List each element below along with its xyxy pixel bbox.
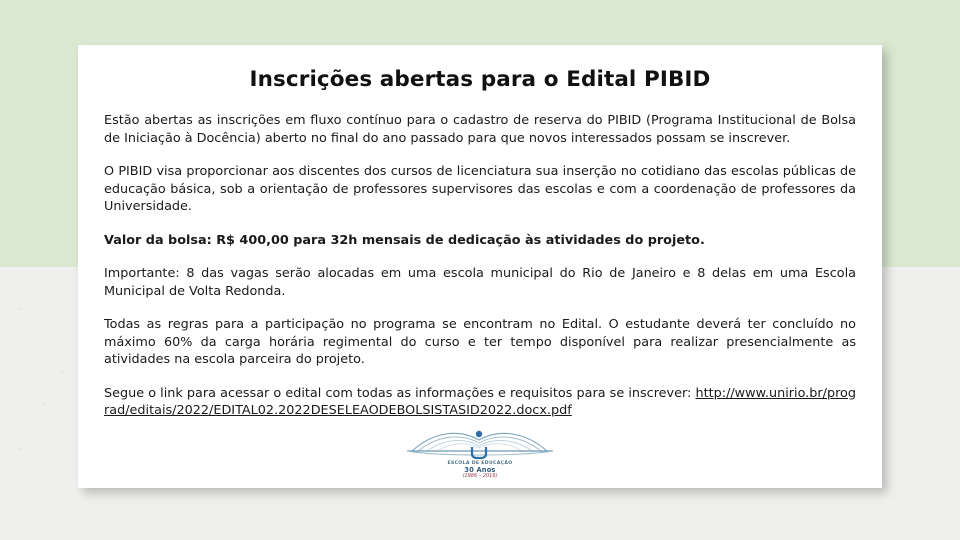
paragraph-scholarship-value: Valor da bolsa: R$ 400,00 para 32h mensa…: [104, 232, 856, 250]
logo-text-block: ESCOLA DE EDUCAÇÃO 30 Anos (1986 – 2016): [447, 462, 512, 479]
paragraph-objective: O PIBID visa proporcionar aos discentes …: [104, 163, 856, 216]
document-body: Estão abertas as inscrições em fluxo con…: [100, 112, 860, 420]
institution-logo: ESCOLA DE EDUCAÇÃO 30 Anos (1986 – 2016): [78, 421, 882, 479]
page-title: Inscrições abertas para o Edital PIBID: [100, 67, 860, 92]
open-book-icon: [404, 421, 556, 463]
paragraph-intro: Estão abertas as inscrições em fluxo con…: [104, 112, 856, 147]
slide-canvas: Inscrições abertas para o Edital PIBID E…: [0, 0, 960, 540]
paragraph-rules: Todas as regras para a participação no p…: [104, 316, 856, 369]
link-lead-text: Segue o link para acessar o edital com t…: [104, 386, 691, 401]
document-card: Inscrições abertas para o Edital PIBID E…: [78, 45, 882, 488]
logo-years: (1986 – 2016): [447, 474, 512, 479]
paragraph-important-vacancies: Importante: 8 das vagas serão alocadas e…: [104, 265, 856, 300]
paragraph-link: Segue o link para acessar o edital com t…: [104, 385, 856, 420]
logo-anniversary: 30 Anos: [447, 467, 512, 474]
